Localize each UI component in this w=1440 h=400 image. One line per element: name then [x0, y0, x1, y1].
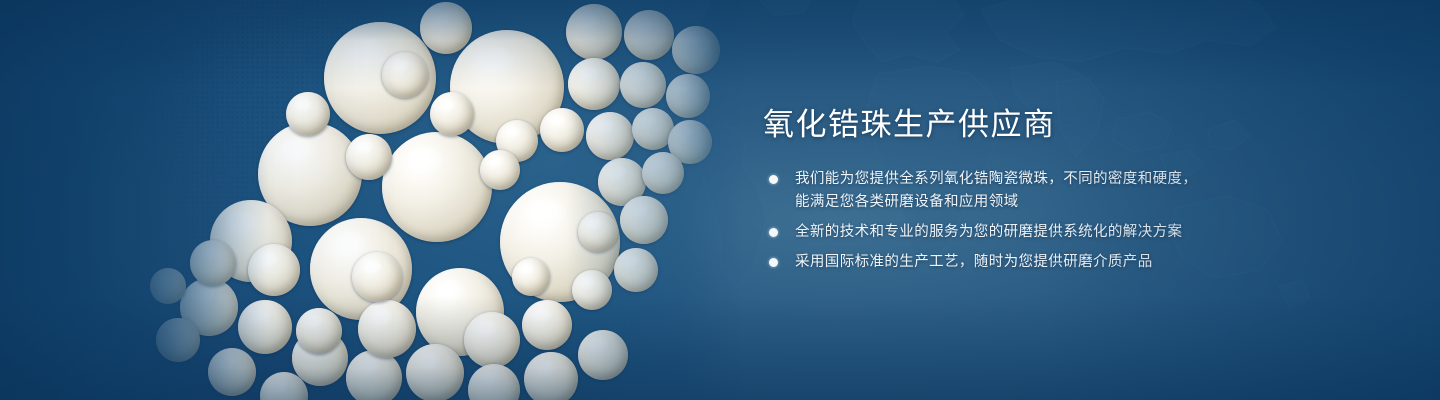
hero-banner: 氧化锆珠生产供应商 我们能为您提供全系列氧化锆陶瓷微珠，不同的密度和硬度， 能满…	[0, 0, 1440, 400]
banner-vignette	[0, 0, 1440, 400]
